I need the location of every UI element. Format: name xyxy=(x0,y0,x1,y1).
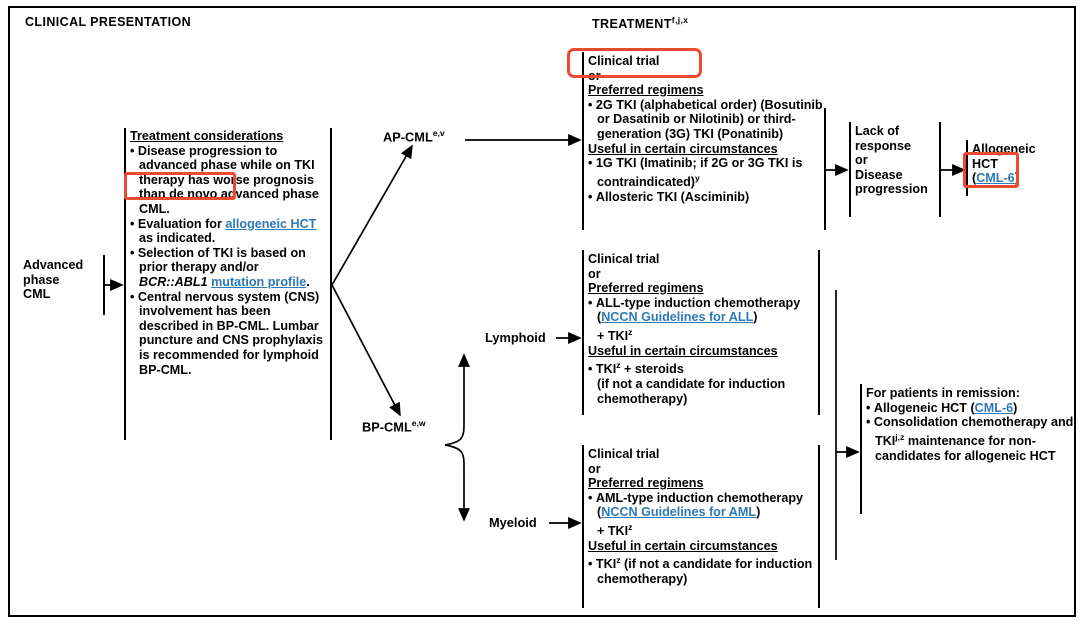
connector-bp-cml-split xyxy=(445,355,464,445)
arrow-split-to-bp-cml xyxy=(332,285,400,415)
connector-arrows xyxy=(0,0,1085,627)
arrow-split-to-ap-cml xyxy=(332,146,412,285)
diagram-page: CLINICAL PRESENTATION TREATMENTf,j,x Adv… xyxy=(0,0,1085,627)
connector-bp-cml-split-lower xyxy=(445,445,464,520)
